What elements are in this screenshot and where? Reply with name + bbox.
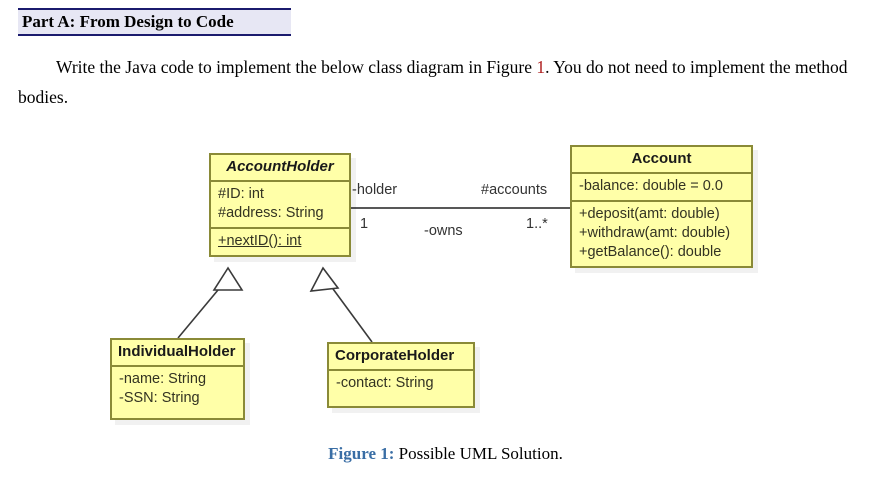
class-box-account[interactable]: Account -balance: double = 0.0 +deposit(… (570, 145, 753, 268)
association-line-owns (350, 207, 570, 209)
operation-item: +withdraw(amt: double) (579, 224, 745, 243)
class-box-account-holder[interactable]: AccountHolder #ID: int #address: String … (209, 153, 351, 257)
hollow-triangle-icon-individual (214, 268, 242, 290)
generalization-line-individual (178, 278, 228, 338)
hollow-triangle-icon-corporate (311, 268, 338, 291)
attribute-item: -SSN: String (119, 389, 237, 408)
attribute-item: #address: String (218, 204, 343, 223)
attribute-item: -contact: String (336, 374, 467, 393)
page-title: Part A: From Design to Code (22, 12, 287, 31)
attribute-item: -name: String (119, 370, 237, 389)
attributes-compartment-individual-holder: -name: String -SSN: String (112, 365, 243, 412)
figure-reference-link[interactable]: 1 (536, 57, 545, 77)
association-target-multiplicity-label: 1..* (526, 216, 548, 232)
class-name-account: Account (572, 147, 751, 172)
uml-class-diagram: -holder #accounts 1 -owns 1..* AccountHo… (0, 130, 891, 440)
section-header-band: Part A: From Design to Code (18, 8, 291, 36)
generalization-line-corporate (325, 278, 372, 342)
class-name-corporate-holder: CorporateHolder (329, 344, 473, 369)
class-box-corporate-holder[interactable]: CorporateHolder -contact: String (327, 342, 475, 408)
association-source-multiplicity-label: 1 (360, 216, 368, 232)
association-name-label: -owns (424, 223, 463, 239)
operation-item: +deposit(amt: double) (579, 205, 745, 224)
attribute-item: #ID: int (218, 185, 343, 204)
class-box-individual-holder[interactable]: IndividualHolder -name: String -SSN: Str… (110, 338, 245, 420)
class-name-account-holder: AccountHolder (211, 155, 349, 180)
association-source-role-label: -holder (352, 182, 397, 198)
operations-compartment-account-holder: +nextID(): int (211, 227, 349, 255)
instruction-paragraph: Write the Java code to implement the bel… (18, 52, 873, 112)
operations-compartment-account: +deposit(amt: double) +withdraw(amt: dou… (572, 200, 751, 266)
figure-caption-label: Figure 1: (328, 444, 394, 463)
attribute-item: -balance: double = 0.0 (579, 177, 745, 196)
association-target-role-label: #accounts (481, 182, 547, 198)
paragraph-text-before-reference: Write the Java code to implement the bel… (56, 57, 536, 77)
operation-item: +nextID(): int (218, 232, 343, 251)
figure-caption: Figure 1: Possible UML Solution. (0, 443, 891, 465)
attributes-compartment-corporate-holder: -contact: String (329, 369, 473, 397)
figure-caption-text: Possible UML Solution. (394, 444, 562, 463)
attributes-compartment-account: -balance: double = 0.0 (572, 172, 751, 200)
attributes-compartment-account-holder: #ID: int #address: String (211, 180, 349, 227)
operation-item: +getBalance(): double (579, 243, 745, 262)
class-name-individual-holder: IndividualHolder (112, 340, 243, 365)
